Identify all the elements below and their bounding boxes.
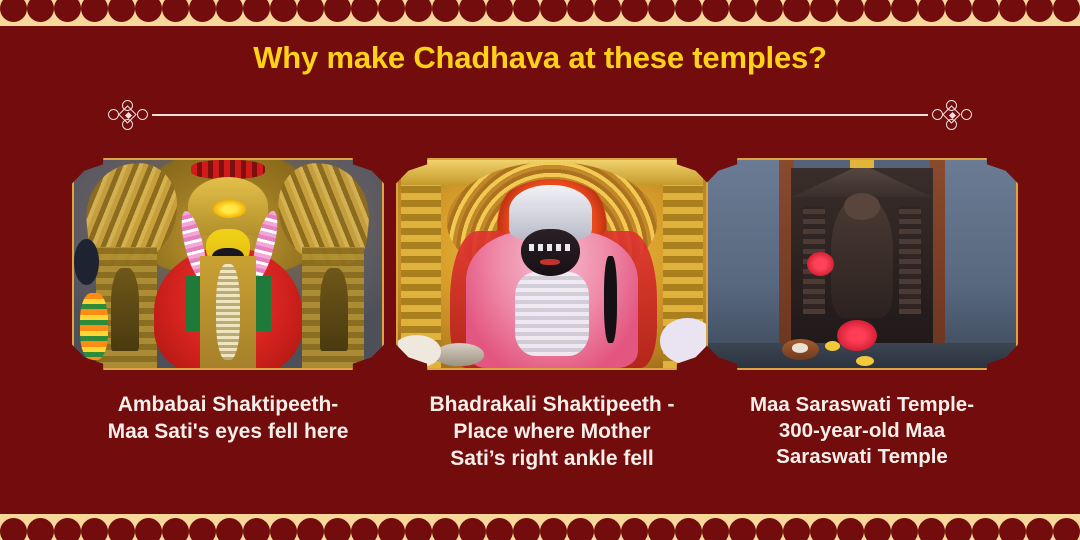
top-border-scallops — [0, 0, 1080, 26]
temple-photo-saraswati — [708, 160, 1016, 368]
temple-card[interactable]: Ambabai Shaktipeeth- Maa Sati's eyes fel… — [72, 158, 384, 446]
temple-card-caption: Maa Saraswati Temple- 300-year-old Maa S… — [706, 392, 1018, 471]
divider-line — [152, 114, 928, 116]
bottom-border-scallops — [0, 514, 1080, 540]
divider-left-ornament-icon — [108, 100, 148, 130]
decorative-divider — [108, 100, 972, 130]
poster-stage: Why make Chadhava at these temples? — [0, 0, 1080, 540]
page-title: Why make Chadhava at these temples? — [0, 40, 1080, 76]
temple-card-caption: Ambabai Shaktipeeth- Maa Sati's eyes fel… — [72, 392, 384, 446]
temple-card[interactable]: Bhadrakali Shaktipeeth - Place where Mot… — [396, 158, 708, 473]
bottom-decorative-border — [0, 514, 1080, 540]
temple-photo-bhadrakali — [398, 160, 706, 368]
temple-card-caption: Bhadrakali Shaktipeeth - Place where Mot… — [396, 392, 708, 473]
temple-photo-frame — [706, 158, 1018, 370]
divider-right-ornament-icon — [932, 100, 972, 130]
temple-photo-frame — [396, 158, 708, 370]
temple-card[interactable]: Maa Saraswati Temple- 300-year-old Maa S… — [706, 158, 1018, 471]
temple-photo-ambabai — [74, 160, 382, 368]
temple-photo-frame — [72, 158, 384, 370]
top-decorative-border — [0, 0, 1080, 26]
